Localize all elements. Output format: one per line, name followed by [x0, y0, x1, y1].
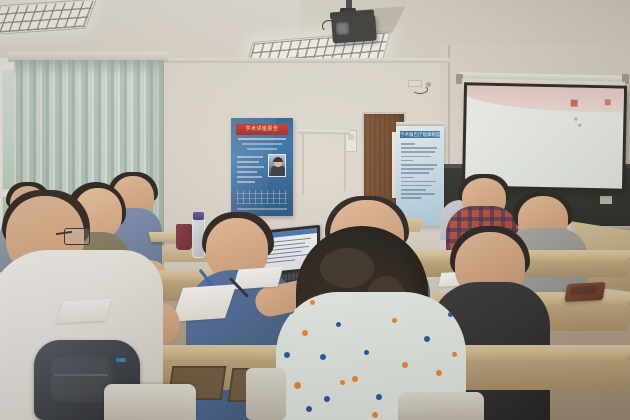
- chalk-mark: [600, 196, 612, 204]
- slide-title-mark: [571, 100, 578, 107]
- red-mug: [176, 224, 192, 250]
- wall-ledge: [150, 58, 450, 63]
- chair[interactable]: [246, 368, 286, 420]
- slide-bullet-dot: [578, 124, 581, 127]
- hanger-leg: [344, 133, 346, 191]
- banner-text-lines: [401, 143, 439, 202]
- projector-cable: [322, 20, 336, 32]
- poster-table: [237, 190, 287, 204]
- banner-title-band: 学术报告厅规章制度: [400, 131, 440, 138]
- poster-text-lines: [237, 156, 265, 186]
- banner-title-text: 学术报告厅规章制度: [400, 131, 440, 138]
- projector-lens: [336, 22, 350, 36]
- notebook-papers: [56, 299, 112, 323]
- chair[interactable]: [104, 384, 196, 420]
- slide-bullet-dot: [574, 118, 577, 121]
- curtain-shadow: [14, 60, 164, 76]
- poster-portrait-photo: [268, 154, 286, 177]
- speaker-bracket: [426, 82, 431, 87]
- slide-title-mark: [605, 99, 611, 105]
- seminar-poster: 学术讲座报告: [231, 118, 293, 216]
- brown-wallet: [564, 282, 605, 302]
- poster-header-text: 学术讲座报告: [236, 124, 288, 135]
- poster-header-band: 学术讲座报告: [236, 124, 288, 135]
- classroom-photo: 学术讲座报告 学术报告厅规章制度: [0, 0, 630, 420]
- chair[interactable]: [398, 392, 484, 420]
- speaker-cable: [412, 85, 428, 94]
- slide-accent-curve: [465, 85, 624, 114]
- water-bottle-cap: [193, 212, 204, 220]
- standing-banner: 学术报告厅规章制度: [396, 126, 444, 226]
- hanger-leg: [302, 133, 304, 195]
